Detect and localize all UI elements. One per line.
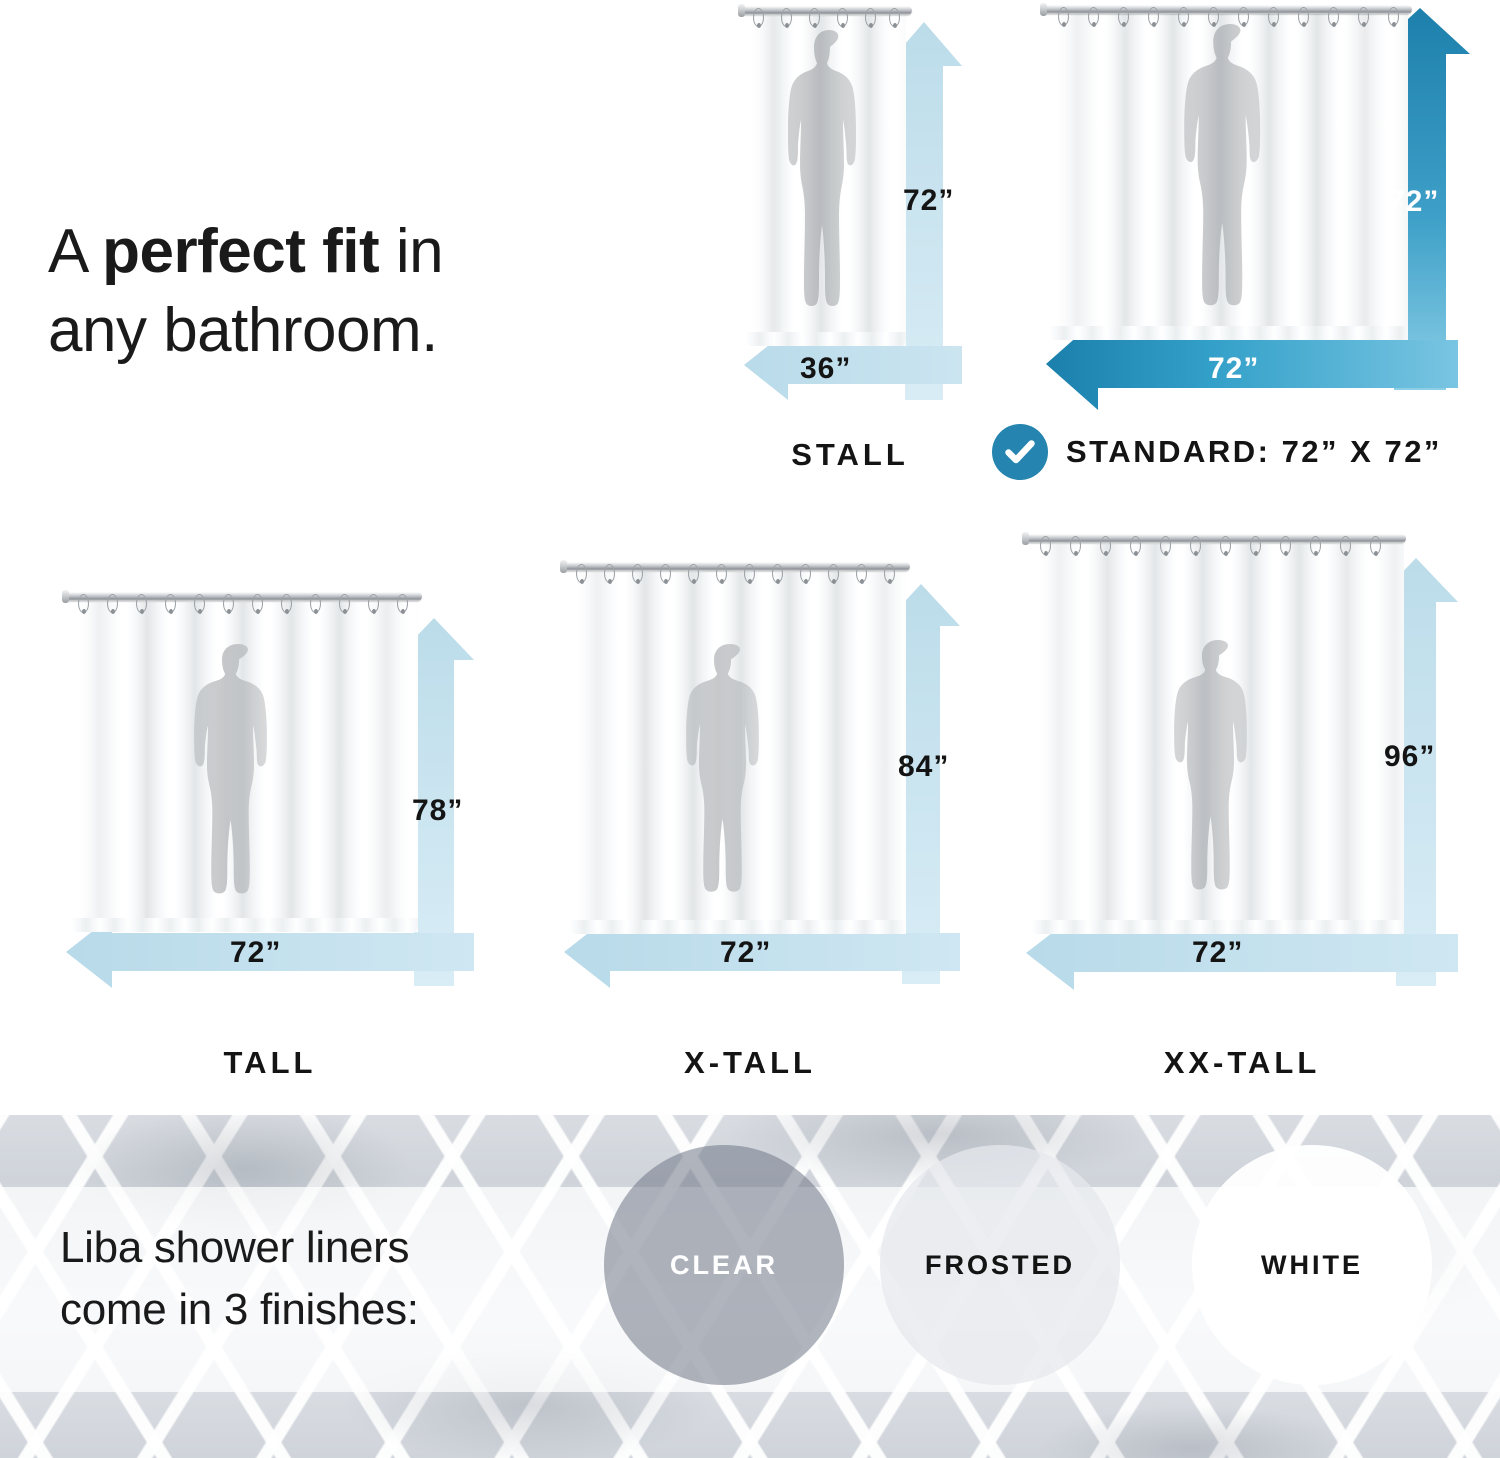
finishes-heading: Liba shower liners come in 3 finishes: — [60, 1217, 419, 1342]
finish-swatch-frosted-top[interactable]: FROSTED — [880, 1145, 1120, 1385]
height-label-tall: 78” — [412, 794, 463, 828]
size-card-stall[interactable]: 72” 36” — [738, 0, 970, 430]
curtain-rod-stall — [740, 6, 912, 15]
curtain-ring — [281, 594, 292, 613]
curtain-ring — [1238, 7, 1249, 26]
curtain-ring — [837, 8, 848, 27]
curtain-ring — [223, 594, 234, 613]
curtain-ring — [397, 594, 408, 613]
curtain-ring — [1298, 7, 1309, 26]
size-card-standard[interactable]: 72” 72” — [1040, 0, 1470, 412]
curtain-ring — [1070, 536, 1081, 555]
curtain-ring — [753, 8, 764, 27]
width-label-stall: 36” — [800, 352, 851, 386]
person-silhouette-standard — [1182, 24, 1278, 342]
size-card-x-tall[interactable]: 84” 72” — [560, 556, 960, 1018]
size-card-tall[interactable]: 78” 72” — [62, 586, 474, 1018]
curtain-ring — [884, 564, 895, 583]
finish-label-frosted-top: FROSTED — [925, 1250, 1075, 1281]
curtain-ring — [772, 564, 783, 583]
curtain-ring — [1160, 536, 1171, 555]
person-silhouette-x-tall — [684, 644, 776, 924]
curtain-ring — [368, 594, 379, 613]
curtain-ring — [107, 594, 118, 613]
height-label-x-tall: 84” — [898, 750, 949, 784]
curtain-ring — [136, 594, 147, 613]
rod-end-tall — [62, 590, 69, 603]
curtain-ring — [1040, 536, 1051, 555]
curtain-ring — [1388, 7, 1399, 26]
curtain-ring — [800, 564, 811, 583]
curtain-ring — [1100, 536, 1111, 555]
curtain-ring — [632, 564, 643, 583]
curtain-ring — [165, 594, 176, 613]
person-silhouette-tall — [192, 644, 284, 926]
curtain-ring — [889, 8, 900, 27]
infographic-root: A perfect fit in any bathroom. — [0, 0, 1500, 1458]
curtain-ring — [310, 594, 321, 613]
curtain-ring — [1088, 7, 1099, 26]
finishes-section: CLEAR FROSTED WHITE CLEAR FROSTED WHITE … — [0, 1115, 1500, 1458]
curtain-ring — [1280, 536, 1291, 555]
curtain-ring — [1340, 536, 1351, 555]
size-caption-standard: STANDARD: 72” X 72” — [1066, 434, 1442, 470]
curtain-ring — [194, 594, 205, 613]
curtain-ring — [1358, 7, 1369, 26]
height-label-standard: 72” — [1388, 185, 1439, 219]
headline-line1-pre: A — [48, 217, 102, 286]
height-label-xx-tall: 96” — [1384, 740, 1435, 774]
rod-end-xx-tall — [1022, 532, 1029, 545]
size-caption-tall: TALL — [110, 1045, 430, 1081]
height-label-stall: 72” — [903, 184, 954, 218]
curtain-ring — [339, 594, 350, 613]
width-label-xx-tall: 72” — [1192, 936, 1243, 970]
finish-swatch-clear-top[interactable]: CLEAR — [604, 1145, 844, 1385]
curtain-ring — [1148, 7, 1159, 26]
curtain-ring — [781, 8, 792, 27]
standard-selected-row[interactable]: STANDARD: 72” X 72” — [992, 424, 1442, 480]
width-label-tall: 72” — [230, 936, 281, 970]
width-label-x-tall: 72” — [720, 936, 771, 970]
headline-line1-bold: perfect fit — [102, 217, 379, 286]
curtain-ring — [604, 564, 615, 583]
curtain-ring — [1130, 536, 1141, 555]
person-silhouette-stall — [786, 30, 872, 342]
headline-line1-post: in — [379, 217, 443, 286]
curtain-ring — [744, 564, 755, 583]
curtain-ring — [828, 564, 839, 583]
curtain-ring — [1250, 536, 1261, 555]
curtain-ring — [1178, 7, 1189, 26]
size-card-xx-tall[interactable]: 96” 72” — [1022, 528, 1462, 1018]
width-label-standard: 72” — [1208, 352, 1259, 386]
curtain-ring — [576, 564, 587, 583]
curtain-ring — [809, 8, 820, 27]
headline-line2: any bathroom. — [48, 296, 438, 365]
size-caption-xx-tall: XX-TALL — [1072, 1045, 1412, 1081]
curtain-ring — [1058, 7, 1069, 26]
curtain-ring — [688, 564, 699, 583]
page-title: A perfect fit in any bathroom. — [48, 212, 688, 371]
size-caption-x-tall: X-TALL — [590, 1045, 910, 1081]
finish-label-clear-top: CLEAR — [670, 1250, 778, 1281]
curtain-ring — [252, 594, 263, 613]
finishes-heading-line2: come in 3 finishes: — [60, 1279, 419, 1341]
curtain-ring — [660, 564, 671, 583]
person-silhouette-xx-tall — [1172, 640, 1264, 922]
finish-swatch-white-top[interactable]: WHITE — [1192, 1145, 1432, 1385]
curtain-ring — [1118, 7, 1129, 26]
rod-end-stall — [738, 4, 745, 17]
curtain-ring — [865, 8, 876, 27]
finish-label-white-top: WHITE — [1261, 1250, 1363, 1281]
curtain-ring — [78, 594, 89, 613]
curtain-ring — [716, 564, 727, 583]
curtain-ring — [856, 564, 867, 583]
check-icon — [992, 424, 1048, 480]
curtain-ring — [1208, 7, 1219, 26]
rod-end-standard — [1040, 3, 1047, 16]
curtain-ring — [1328, 7, 1339, 26]
rod-end-x-tall — [560, 560, 567, 573]
curtain-ring — [1190, 536, 1201, 555]
finishes-heading-line1: Liba shower liners — [60, 1217, 419, 1279]
curtain-hem — [1032, 920, 1404, 934]
curtain-ring — [1268, 7, 1279, 26]
curtain-ring — [1310, 536, 1321, 555]
curtain-ring — [1370, 536, 1381, 555]
size-caption-stall: STALL — [700, 437, 1000, 473]
curtain-ring — [1220, 536, 1231, 555]
